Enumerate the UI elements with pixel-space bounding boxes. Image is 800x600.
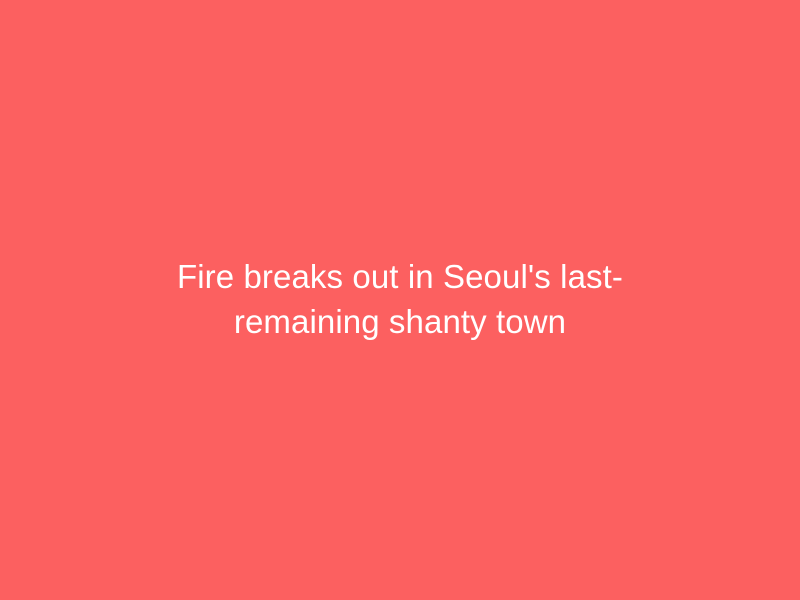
placeholder-image-canvas: Fire breaks out in Seoul's last-remainin… — [0, 0, 800, 600]
headline-block: Fire breaks out in Seoul's last-remainin… — [100, 254, 700, 344]
headline-text: Fire breaks out in Seoul's last-remainin… — [112, 254, 688, 344]
